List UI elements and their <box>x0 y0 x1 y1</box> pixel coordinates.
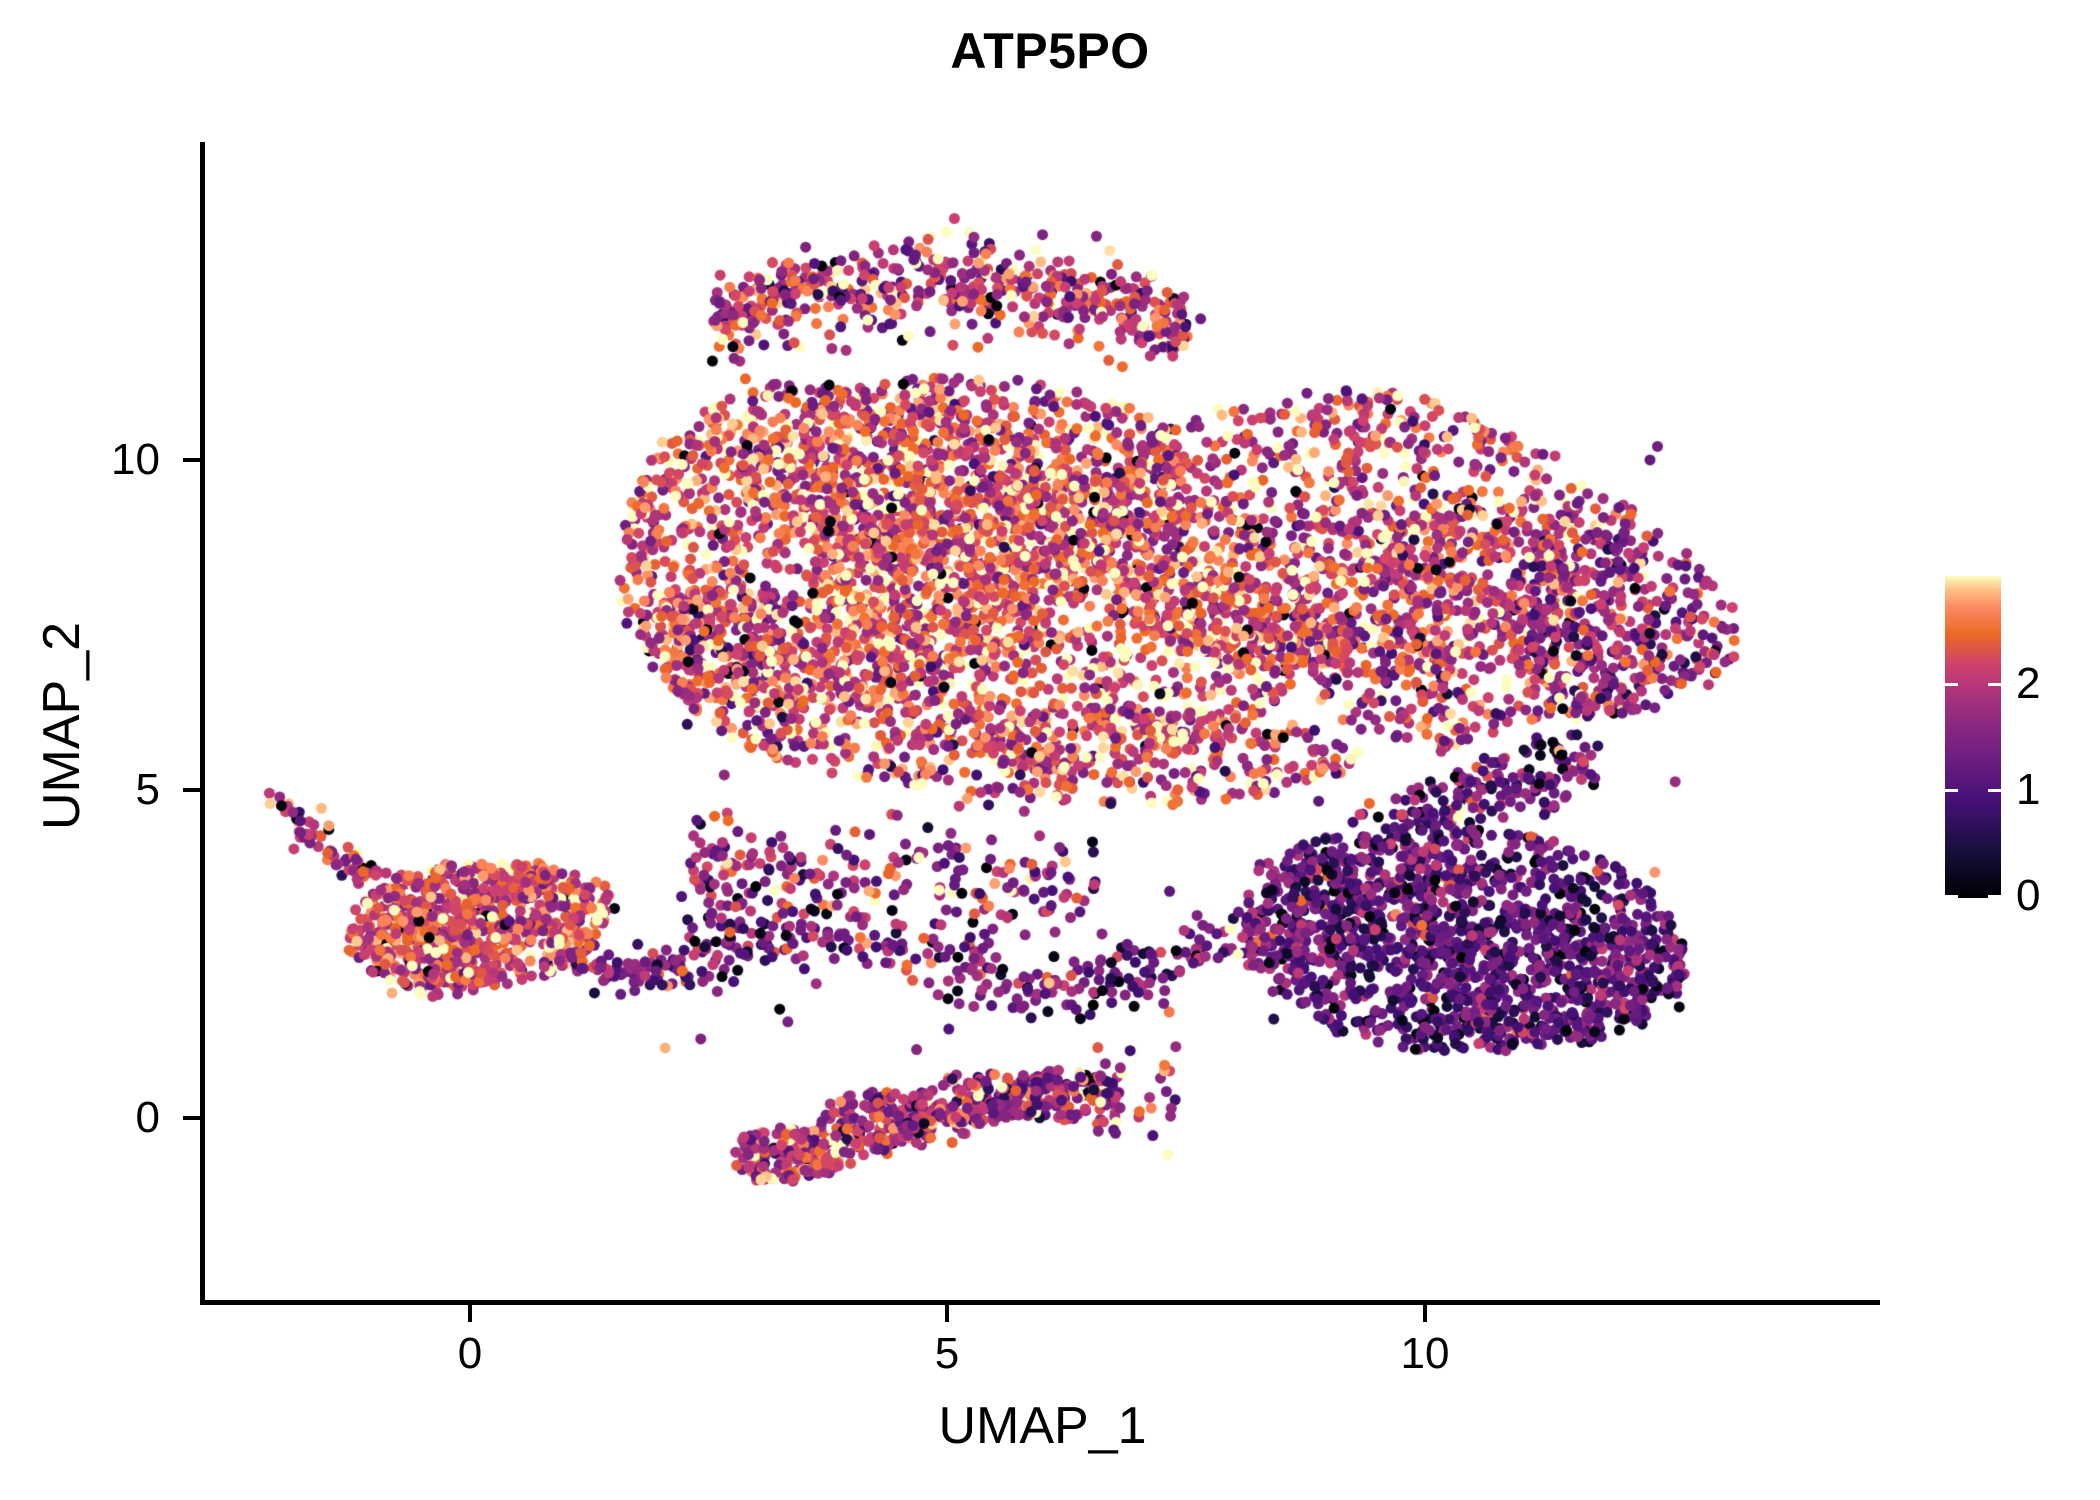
colorbar-tick-0 <box>1945 895 2001 898</box>
page-title: ATP5PO <box>0 26 2100 76</box>
x-tick-label-0: 0 <box>410 1332 530 1376</box>
colorbar-tick-1 <box>1945 789 2001 792</box>
plot-panel <box>205 142 1880 1302</box>
figure-root: ATP5PO 0 5 10 0 5 10 UMAP_1 UMAP_2 2 1 0 <box>0 0 2100 1500</box>
y-axis-title: UMAP_2 <box>36 406 88 1046</box>
colorbar-label-2: 2 <box>2016 662 2096 706</box>
x-tick-mark-5 <box>945 1305 949 1322</box>
y-axis-line <box>200 142 205 1305</box>
y-tick-mark-0 <box>183 1116 200 1120</box>
y-tick-mark-10 <box>183 458 200 462</box>
x-tick-label-10: 10 <box>1365 1332 1485 1376</box>
colorbar-tick-2 <box>1945 683 2001 686</box>
y-tick-mark-5 <box>183 788 200 792</box>
x-axis-title: UMAP_1 <box>205 1400 1880 1452</box>
x-tick-mark-0 <box>468 1305 472 1322</box>
scatter-plot-canvas <box>205 142 1880 1302</box>
colorbar-legend: 2 1 0 <box>1940 576 2090 906</box>
x-axis-line <box>200 1300 1880 1305</box>
y-tick-label-0: 0 <box>40 1096 160 1140</box>
colorbar-label-0: 0 <box>2016 874 2096 918</box>
colorbar-label-1: 1 <box>2016 768 2096 812</box>
colorbar-gradient <box>1945 576 2001 898</box>
x-tick-label-5: 5 <box>887 1332 1007 1376</box>
x-tick-mark-10 <box>1423 1305 1427 1322</box>
